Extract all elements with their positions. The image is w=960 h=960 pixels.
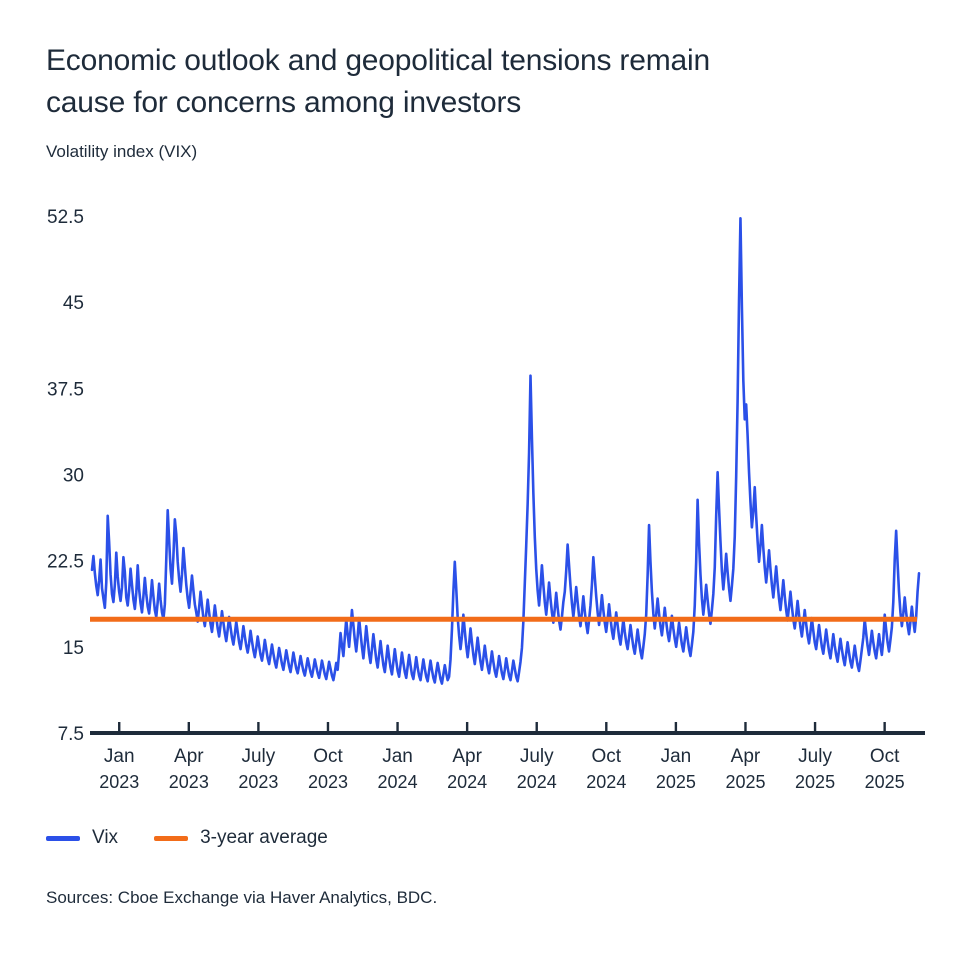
x-axis-tick-month: Oct	[592, 746, 622, 767]
x-axis-tick-year: 2024	[517, 772, 557, 792]
x-axis-tick-year: 2023	[308, 772, 348, 792]
y-axis-tick-label: 45	[63, 293, 84, 314]
x-axis-tick-year: 2023	[169, 772, 209, 792]
source-note: Sources: Cboe Exchange via Haver Analyti…	[46, 886, 437, 910]
x-axis-tick-month: Jan	[661, 746, 692, 767]
y-axis-tick-labels: 7.51522.53037.54552.5	[47, 207, 84, 745]
x-axis-tick-marks	[119, 722, 884, 733]
x-axis-tick-year: 2025	[725, 772, 765, 792]
x-axis-tick-month: Jan	[104, 746, 135, 767]
y-axis-tick-label: 37.5	[47, 379, 84, 400]
legend-item-three-year-average[interactable]: 3-year average	[154, 828, 328, 848]
legend-swatch-three-year-average	[154, 836, 188, 841]
chart-page: Economic outlook and geopolitical tensio…	[0, 0, 960, 960]
x-axis-tick-year: 2025	[795, 772, 835, 792]
x-axis-tick-month: Apr	[731, 746, 761, 767]
x-axis-tick-year: 2024	[447, 772, 487, 792]
vix-series-line	[92, 218, 919, 683]
x-axis-tick-month: July	[520, 746, 554, 767]
x-axis-tick-month: July	[798, 746, 832, 767]
x-axis-tick-year: 2024	[378, 772, 418, 792]
x-axis-tick-month: Oct	[870, 746, 900, 767]
legend-label-vix: Vix	[92, 828, 118, 848]
x-axis-tick-labels: Jan2023Apr2023July2023Oct2023Jan2024Apr2…	[99, 746, 904, 792]
y-axis-tick-label: 52.5	[47, 207, 84, 228]
y-axis-tick-label: 22.5	[47, 552, 84, 573]
x-axis-tick-month: July	[241, 746, 275, 767]
x-axis-tick-month: Apr	[174, 746, 204, 767]
x-axis-tick-year: 2024	[586, 772, 626, 792]
x-axis-tick-month: Apr	[452, 746, 482, 767]
legend-label-three-year-average: 3-year average	[200, 828, 328, 848]
y-axis-tick-label: 7.5	[58, 724, 84, 745]
x-axis-tick-year: 2023	[238, 772, 278, 792]
y-axis-tick-label: 15	[63, 638, 84, 659]
x-axis-tick-year: 2025	[865, 772, 905, 792]
legend-swatch-vix	[46, 836, 80, 841]
x-axis-tick-year: 2023	[99, 772, 139, 792]
legend-item-vix[interactable]: Vix	[46, 828, 118, 848]
chart-legend: Vix 3-year average	[46, 828, 328, 848]
x-axis-tick-month: Oct	[313, 746, 343, 767]
x-axis-tick-month: Jan	[382, 746, 413, 767]
x-axis-tick-year: 2025	[656, 772, 696, 792]
page-title: Economic outlook and geopolitical tensio…	[46, 40, 876, 124]
chart-subtitle: Volatility index (VIX)	[46, 140, 197, 164]
y-axis-tick-label: 30	[63, 466, 84, 487]
